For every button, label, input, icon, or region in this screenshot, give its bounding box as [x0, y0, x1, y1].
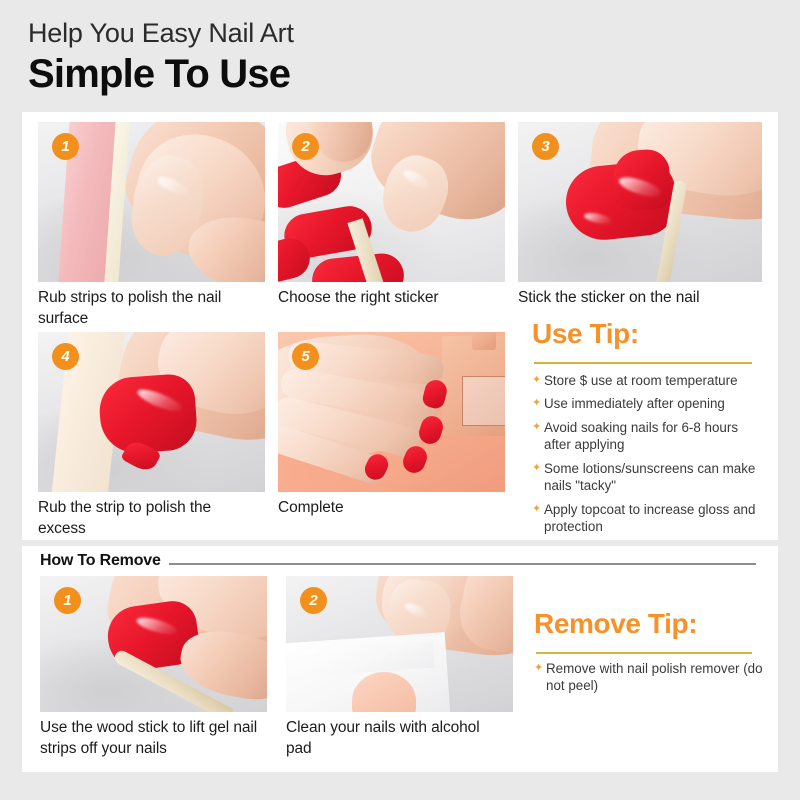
step-caption-3: Stick the sticker on the nail: [518, 288, 758, 309]
step-badge-1: 1: [52, 133, 79, 160]
bullet-icon: ✦: [532, 373, 541, 387]
use-tip-item-text: Avoid soaking nails for 6-8 hours after …: [544, 420, 738, 452]
remove-section-label: How To Remove: [40, 552, 169, 570]
remove-caption-2: Clean your nails with alcohol pad: [286, 718, 508, 759]
use-tip-item: ✦ Apply topcoat to increase gloss and pr…: [532, 501, 764, 536]
step-panel-4[interactable]: 4: [38, 332, 265, 492]
remove-card: How To Remove 1 Use the wood stick to li…: [22, 546, 778, 772]
remove-badge-1: 1: [54, 587, 81, 614]
page-title: Simple To Use: [28, 51, 728, 97]
use-tip-list: ✦ Store $ use at room temperature ✦ Use …: [532, 372, 764, 541]
bullet-icon: ✦: [532, 396, 541, 410]
bullet-icon: ✦: [534, 661, 543, 675]
remove-panel-2[interactable]: 2: [286, 576, 513, 712]
step-panel-3[interactable]: 3: [518, 122, 762, 282]
remove-tip-title: Remove Tip:: [534, 608, 697, 640]
remove-tip-divider: [536, 652, 752, 654]
step-badge-2: 2: [292, 133, 319, 160]
step-panel-1[interactable]: 1: [38, 122, 265, 282]
use-tip-item-text: Apply topcoat to increase gloss and prot…: [544, 502, 755, 534]
steps-card: 1 Rub strips to polish the nail surface …: [22, 112, 778, 540]
remove-panel-1[interactable]: 1: [40, 576, 267, 712]
use-tip-divider: [534, 362, 752, 364]
step-caption-2: Choose the right sticker: [278, 288, 493, 309]
remove-caption-1: Use the wood stick to lift gel nail stri…: [40, 718, 268, 759]
use-tip-item: ✦ Avoid soaking nails for 6-8 hours afte…: [532, 419, 764, 454]
step-panel-2[interactable]: 2: [278, 122, 505, 282]
bullet-icon: ✦: [532, 461, 541, 475]
remove-tip-list: ✦ Remove with nail polish remover (do no…: [534, 660, 766, 701]
use-tip-item-text: Some lotions/sunscreens can make nails "…: [544, 461, 755, 493]
step-badge-4: 4: [52, 343, 79, 370]
use-tip-title: Use Tip:: [532, 318, 639, 350]
use-tip-item-text: Use immediately after opening: [544, 396, 725, 411]
use-tip-item: ✦ Store $ use at room temperature: [532, 372, 764, 389]
use-tip-item-text: Store $ use at room temperature: [544, 373, 738, 388]
bullet-icon: ✦: [532, 420, 541, 434]
step-caption-1: Rub strips to polish the nail surface: [38, 288, 253, 329]
step-badge-3: 3: [532, 133, 559, 160]
step-caption-4: Rub the strip to polish the excess: [38, 498, 253, 539]
step-badge-5: 5: [292, 343, 319, 370]
remove-badge-2: 2: [300, 587, 327, 614]
step-caption-5: Complete: [278, 498, 493, 519]
use-tip-item: ✦ Some lotions/sunscreens can make nails…: [532, 460, 764, 495]
use-tip-item: ✦ Use immediately after opening: [532, 395, 764, 412]
bullet-icon: ✦: [532, 502, 541, 516]
remove-tip-item: ✦ Remove with nail polish remover (do no…: [534, 660, 766, 695]
header-subtitle: Help You Easy Nail Art: [28, 18, 728, 49]
remove-tip-item-text: Remove with nail polish remover (do not …: [546, 661, 763, 693]
page-header: Help You Easy Nail Art Simple To Use: [28, 18, 728, 97]
step-panel-5[interactable]: 5: [278, 332, 505, 492]
